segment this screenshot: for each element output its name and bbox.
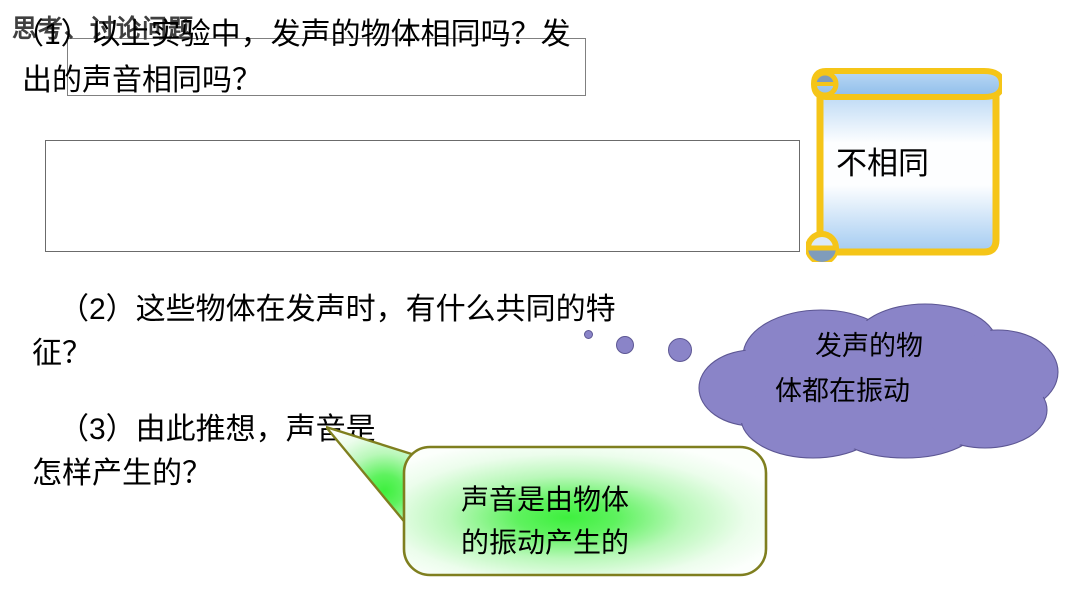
thought-dot-small [584,330,593,339]
question-1-box [45,140,800,252]
question-3-line-2: 怎样产生的？ [32,448,212,492]
green-answer-line-1: 声音是由物体 [461,478,629,518]
question-1-line-1: （1）以上实验中，发声的物体相同吗？发 [14,9,571,53]
cloud-answer-line-1: 发声的物 [815,324,923,363]
thought-dot-large [668,338,692,362]
question-2-line-2: 征？ [32,328,92,372]
slide-canvas: 思考、讨论问题 （1）以上实验中，发声的物体相同吗？发 出的声音相同吗？ （2）… [0,0,1066,600]
question-2-line-1: （2）这些物体在发声时，有什么共同的特 [59,284,616,328]
scroll-answer-text: 不相同 [836,138,929,183]
question-1-line-2: 出的声音相同吗？ [22,55,262,99]
cloud-answer-line-2: 体都在振动 [775,369,910,408]
thought-dot-medium [616,336,634,354]
green-answer-line-2: 的振动产生的 [461,521,629,561]
